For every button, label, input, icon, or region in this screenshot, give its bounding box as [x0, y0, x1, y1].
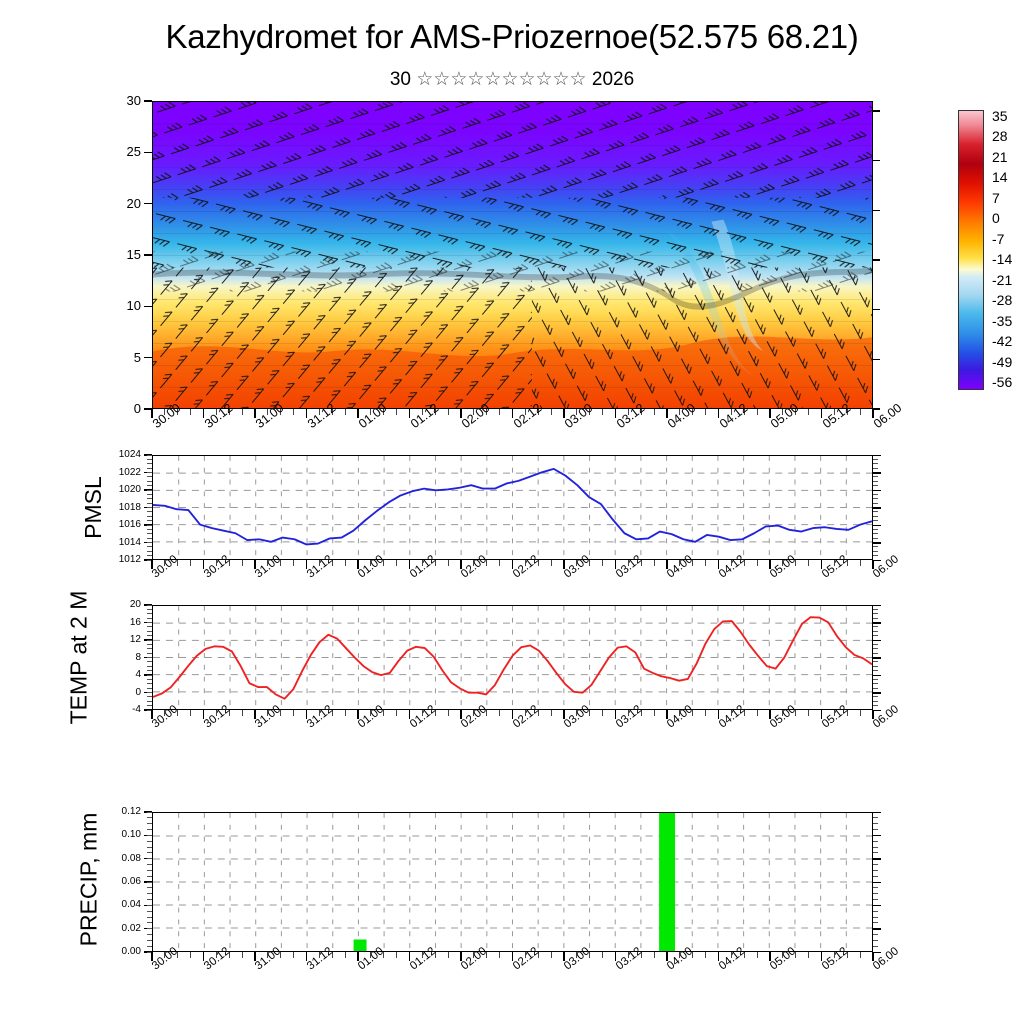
x-axis-label: 04.00 [665, 963, 672, 972]
y-tick-right [873, 887, 878, 888]
y-tick-major [144, 507, 152, 509]
x-axis-label: 04.00 [665, 721, 672, 730]
x-axis-label: 01.00 [356, 420, 365, 431]
y-tick-right [873, 468, 878, 469]
y-axis-label: 1020 [119, 483, 141, 496]
x-axis-label: 31.00 [253, 571, 260, 580]
y-tick-right [873, 882, 881, 884]
y-tick-major [144, 203, 152, 205]
y-tick-right [873, 934, 878, 935]
x-tick-minor [293, 710, 294, 716]
y-tick-major [144, 454, 152, 456]
y-tick-major [144, 692, 152, 694]
y-tick-right [873, 538, 878, 539]
y-tick-right [873, 626, 878, 627]
x-tick-minor [396, 710, 397, 716]
y-tick-right [873, 546, 878, 547]
y-tick-right [873, 893, 878, 894]
colorbar-tick-label: 7 [992, 191, 1000, 205]
colorbar-legend[interactable]: 3528211470-7-14-21-28-35-42-49-56 [958, 110, 984, 390]
y-tick-major [144, 357, 152, 359]
pmsl-axis-title: PMSL [80, 476, 107, 539]
x-tick-minor [551, 952, 552, 958]
x-axis-label: 30.00 [150, 963, 157, 972]
x-axis-label: 03.00 [562, 571, 569, 580]
precip-axis-title: PRECIP, mm [75, 813, 102, 947]
y-axis-label: 30 [127, 94, 141, 107]
y-tick-major [144, 674, 152, 676]
y-tick-right [873, 555, 878, 556]
x-tick-minor [190, 952, 191, 958]
x-tick-minor [654, 710, 655, 716]
y-tick-right [873, 408, 880, 410]
colorbar-gradient [958, 110, 984, 390]
x-tick-minor [396, 409, 397, 415]
precip-bar [354, 939, 367, 951]
x-tick-minor [499, 710, 500, 716]
y-tick-right [873, 841, 878, 842]
colorbar-tick-label: 35 [992, 109, 1008, 123]
precip-x-axis: 30.0030.1231.0031.1201.0001.1202.0002.12… [0, 0, 1024, 60]
y-tick-right [873, 683, 878, 684]
y-tick-right [873, 520, 878, 521]
y-tick-major [144, 472, 152, 474]
y-tick-right [873, 657, 881, 659]
x-axis-label: 02.12 [511, 721, 518, 730]
x-axis-label: 01.12 [408, 721, 415, 730]
x-tick-minor [293, 409, 294, 415]
x-axis-label: 31.12 [305, 420, 314, 431]
y-tick-major [144, 622, 152, 624]
x-axis-label: 04.00 [665, 571, 672, 580]
x-axis-label: 02.12 [511, 571, 518, 580]
y-axis-label: 1016 [119, 518, 141, 531]
y-axis-label: 4 [135, 668, 141, 681]
y-tick-right [873, 259, 880, 261]
y-axis-label: 16 [130, 616, 141, 629]
y-axis-label: 5 [134, 351, 141, 364]
y-tick-major [144, 306, 152, 308]
y-tick-right [873, 661, 878, 662]
x-tick-minor [448, 560, 449, 566]
y-tick-major [144, 100, 152, 102]
y-tick-right [873, 472, 881, 474]
x-tick-minor [602, 560, 603, 566]
x-axis-label: 03.12 [614, 420, 623, 431]
y-tick-right [873, 899, 878, 900]
y-tick-right [873, 631, 878, 632]
y-tick-right [873, 613, 878, 614]
y-tick-right [873, 533, 878, 534]
y-tick-right [873, 823, 878, 824]
x-tick-minor [860, 409, 861, 415]
x-axis-label: 01.12 [408, 963, 415, 972]
x-axis-label: 05.00 [768, 721, 775, 730]
temp-line [153, 606, 872, 709]
x-tick-minor [654, 952, 655, 958]
x-tick-minor [345, 409, 346, 415]
y-tick-right [873, 922, 878, 923]
x-axis-label: 06.00 [871, 420, 880, 431]
y-tick-right [873, 905, 881, 907]
x-axis-label: 02.12 [511, 963, 518, 972]
y-tick-right [873, 635, 878, 636]
y-tick-right [873, 911, 878, 912]
x-axis-label: 30.00 [150, 420, 159, 431]
y-tick-right [873, 622, 881, 624]
x-axis-label: 03.00 [562, 420, 571, 431]
y-tick-right [873, 511, 878, 512]
x-tick-minor [345, 560, 346, 566]
x-tick-minor [602, 710, 603, 716]
temp-plot[interactable] [152, 605, 873, 710]
y-axis-label: 0.12 [122, 805, 141, 818]
y-axis-label: 15 [127, 248, 141, 261]
x-axis-label: 04.00 [665, 420, 674, 431]
colorbar-tick-label: -56 [992, 375, 1012, 389]
y-tick-right [873, 560, 881, 562]
x-axis-label: 30.12 [202, 721, 209, 730]
x-axis-label: 31.12 [305, 721, 312, 730]
x-axis-label: 31.00 [253, 963, 260, 972]
y-tick-right [873, 648, 878, 649]
x-axis-label: 05.12 [820, 721, 827, 730]
y-tick-major [144, 905, 152, 907]
y-tick-major [144, 254, 152, 256]
x-tick-minor [190, 710, 191, 716]
x-axis-label: 02.12 [511, 420, 520, 431]
x-tick-minor [396, 952, 397, 958]
y-tick-right [873, 692, 881, 694]
x-tick-minor [654, 409, 655, 415]
y-axis-label: 10 [127, 299, 141, 312]
x-tick-minor [705, 409, 706, 415]
y-tick-major [144, 489, 152, 491]
y-axis-label: 1024 [119, 448, 141, 461]
x-axis-label: 06.00 [871, 963, 878, 972]
x-axis-label: 05.00 [768, 571, 775, 580]
x-tick-minor [448, 952, 449, 958]
y-axis-label: 0.06 [122, 875, 141, 888]
wind-barbs-overlay [153, 102, 872, 409]
x-tick-minor [757, 560, 758, 566]
y-tick-right [873, 675, 881, 677]
x-tick-minor [808, 952, 809, 958]
y-tick-right [873, 498, 878, 499]
y-axis-label: 0.10 [122, 828, 141, 841]
y-tick-right [873, 525, 881, 527]
y-axis-label: 20 [127, 197, 141, 210]
y-tick-right [873, 542, 881, 544]
x-axis-label: 01.00 [356, 963, 363, 972]
y-tick-right [873, 940, 878, 941]
x-axis-label: 31.00 [253, 721, 260, 730]
x-axis-label: 31.12 [305, 963, 312, 972]
y-tick-right [873, 917, 878, 918]
y-tick-right [873, 210, 880, 212]
temp-axis-title: TEMP at 2 M [65, 590, 92, 724]
x-tick-minor [860, 710, 861, 716]
y-tick-right [873, 476, 878, 477]
x-tick-minor [293, 952, 294, 958]
y-tick-right [873, 516, 878, 517]
y-tick-right [873, 551, 878, 552]
y-tick-right [873, 670, 878, 671]
y-tick-right [873, 847, 878, 848]
y-tick-right [873, 835, 881, 837]
y-tick-major [144, 524, 152, 526]
x-tick-minor [448, 710, 449, 716]
x-tick-minor [499, 952, 500, 958]
y-axis-label: 12 [130, 633, 141, 646]
y-tick-right [873, 618, 878, 619]
x-axis-label: 30.12 [202, 571, 209, 580]
y-axis-label: 1018 [119, 501, 141, 514]
y-axis-label: 0.08 [122, 852, 141, 865]
x-tick-minor [551, 710, 552, 716]
y-tick-right [873, 876, 878, 877]
y-tick-right [873, 812, 881, 814]
y-tick-right [873, 679, 878, 680]
x-tick-minor [860, 560, 861, 566]
x-axis-label: 03.00 [562, 963, 569, 972]
y-tick-right [873, 928, 881, 930]
colorbar-tick-label: -7 [992, 232, 1004, 246]
x-tick-minor [293, 560, 294, 566]
x-tick-minor [499, 409, 500, 415]
y-tick-right [873, 160, 880, 162]
y-axis-label: -4 [132, 703, 141, 716]
x-axis-label: 03.12 [614, 721, 621, 730]
x-axis-label: 30.12 [202, 420, 211, 431]
y-tick-major [144, 542, 152, 544]
y-tick-right [873, 829, 878, 830]
y-tick-right [873, 852, 878, 853]
y-tick-right [873, 459, 878, 460]
y-tick-right [873, 309, 880, 311]
colorbar-tick-label: -21 [992, 273, 1012, 287]
pmsl-plot[interactable] [152, 455, 873, 560]
y-axis-label: 1014 [119, 536, 141, 549]
y-tick-right [873, 946, 878, 947]
x-axis-label: 04.12 [717, 420, 726, 431]
y-tick-right [873, 952, 881, 954]
x-tick-minor [705, 952, 706, 958]
x-axis-label: 01.12 [408, 571, 415, 580]
y-axis-label: 0 [134, 402, 141, 415]
colorbar-tick-label: -35 [992, 314, 1012, 328]
y-tick-right [873, 688, 878, 689]
y-tick-right [873, 110, 880, 112]
y-tick-right [873, 609, 878, 610]
x-tick-minor [808, 560, 809, 566]
x-axis-label: 03.12 [614, 571, 621, 580]
x-axis-label: 04.12 [717, 721, 724, 730]
x-tick-minor [190, 409, 191, 415]
y-axis-label: 8 [135, 651, 141, 664]
x-tick-minor [757, 409, 758, 415]
y-tick-right [873, 653, 878, 654]
y-axis-label: 1022 [119, 466, 141, 479]
colorbar-tick-label: -28 [992, 293, 1012, 307]
x-tick-minor [757, 952, 758, 958]
x-tick-minor [551, 560, 552, 566]
y-tick-right [873, 870, 878, 871]
x-axis-label: 31.12 [305, 571, 312, 580]
y-tick-major [144, 811, 152, 813]
x-tick-minor [242, 952, 243, 958]
x-tick-minor [705, 710, 706, 716]
x-axis-label: 02.00 [459, 721, 466, 730]
x-tick-minor [808, 710, 809, 716]
x-tick-minor [345, 952, 346, 958]
y-tick-right [873, 490, 881, 492]
x-axis-label: 30.00 [150, 571, 157, 580]
x-tick-minor [551, 409, 552, 415]
x-axis-label: 05.12 [820, 571, 827, 580]
x-tick-minor [602, 409, 603, 415]
x-tick-minor [448, 409, 449, 415]
subtitle-day: 30 [390, 69, 411, 90]
colorbar-tick-label: 14 [992, 170, 1008, 184]
x-tick-minor [808, 409, 809, 415]
x-axis-label: 01.12 [408, 420, 417, 431]
x-tick-minor [242, 560, 243, 566]
subtitle-month-glyphs: ☆☆☆☆☆☆☆☆☆☆ [416, 69, 586, 90]
x-axis-label: 02.00 [459, 420, 468, 431]
cross-section-plot[interactable] [152, 101, 873, 409]
y-axis-label: 0 [135, 686, 141, 699]
y-tick-right [873, 605, 881, 607]
x-axis-label: 31.00 [253, 420, 262, 431]
y-tick-right [873, 494, 878, 495]
x-tick-minor [705, 560, 706, 566]
y-tick-right [873, 503, 878, 504]
y-tick-right [873, 858, 881, 860]
y-tick-right [873, 463, 878, 464]
y-axis-label: 0.02 [122, 922, 141, 935]
y-tick-right [873, 864, 878, 865]
y-tick-right [873, 640, 881, 642]
y-tick-major [144, 639, 152, 641]
x-axis-label: 06.00 [871, 571, 878, 580]
x-tick-minor [242, 710, 243, 716]
y-tick-right [873, 705, 878, 706]
y-tick-right [873, 817, 878, 818]
y-tick-major [144, 657, 152, 659]
x-axis-label: 03.00 [562, 721, 569, 730]
y-axis-label: 25 [127, 145, 141, 158]
x-axis-label: 03.12 [614, 963, 621, 972]
pmsl-line [153, 456, 872, 559]
y-tick-major [144, 858, 152, 860]
x-axis-label: 05.12 [820, 420, 829, 431]
precip-bar [659, 813, 675, 951]
y-tick-major [144, 152, 152, 154]
y-tick-right [873, 696, 878, 697]
precip-bars [153, 813, 872, 951]
x-axis-label: 05.12 [820, 963, 827, 972]
y-axis-label: 0.04 [122, 898, 141, 911]
x-tick-minor [757, 710, 758, 716]
x-axis-label: 04.12 [717, 963, 724, 972]
x-axis-label: 30.12 [202, 963, 209, 972]
x-axis-label: 04.12 [717, 571, 724, 580]
x-tick-minor [860, 952, 861, 958]
x-tick-minor [499, 560, 500, 566]
y-tick-right [873, 481, 878, 482]
y-tick-right [873, 529, 878, 530]
subtitle-year: 2026 [592, 69, 634, 90]
y-tick-right [873, 666, 878, 667]
colorbar-tick-label: -14 [992, 252, 1012, 266]
y-axis-label: 20 [130, 598, 141, 611]
y-tick-right [873, 359, 880, 361]
x-axis-label: 01.00 [356, 721, 363, 730]
colorbar-tick-label: -49 [992, 355, 1012, 369]
y-tick-major [144, 928, 152, 930]
y-tick-right [873, 701, 878, 702]
y-tick-right [873, 507, 881, 509]
colorbar-tick-label: 0 [992, 211, 1000, 225]
y-tick-right [873, 710, 881, 712]
x-tick-minor [242, 409, 243, 415]
x-tick-minor [345, 710, 346, 716]
colorbar-tick-label: 21 [992, 150, 1008, 164]
colorbar-tick-label: -42 [992, 334, 1012, 348]
x-axis-label: 30.00 [150, 721, 157, 730]
x-axis-label: 02.00 [459, 963, 466, 972]
x-axis-label: 02.00 [459, 571, 466, 580]
x-tick-minor [396, 560, 397, 566]
x-axis-label: 06.00 [871, 721, 878, 730]
x-tick-minor [190, 560, 191, 566]
y-tick-right [873, 485, 878, 486]
y-tick-right [873, 455, 881, 457]
x-axis-label: 05.00 [768, 963, 775, 972]
precip-plot[interactable] [152, 812, 873, 952]
colorbar-tick-label: 28 [992, 129, 1008, 143]
x-axis-label: 01.00 [356, 571, 363, 580]
y-tick-major [144, 881, 152, 883]
y-tick-major [144, 835, 152, 837]
x-tick-minor [654, 560, 655, 566]
y-tick-right [873, 644, 878, 645]
x-axis-label: 05.00 [768, 420, 777, 431]
y-axis-label: 0.00 [122, 945, 141, 958]
y-axis-label: 1012 [119, 553, 141, 566]
x-tick-minor [602, 952, 603, 958]
y-tick-major [144, 604, 152, 606]
subtitle-date: 30 ☆☆☆☆☆☆☆☆☆☆ 2026 [0, 68, 1024, 91]
